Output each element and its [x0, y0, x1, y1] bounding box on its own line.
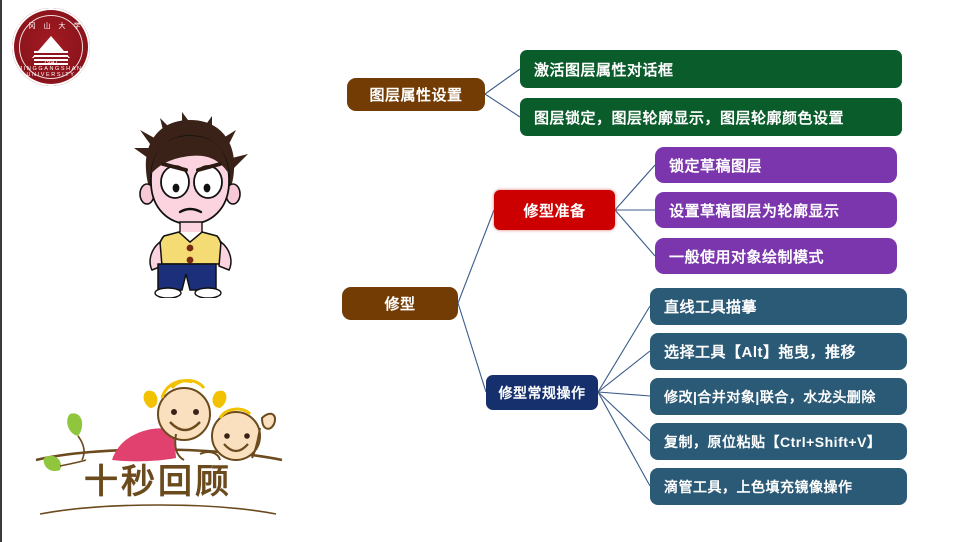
- node-line-tool-trace-label: 直线工具描摹: [664, 296, 907, 317]
- node-lock-draft-layer[interactable]: 锁定草稿图层: [655, 147, 897, 183]
- cartoon-boy-illustration: [120, 108, 260, 298]
- node-selection-tool-alt[interactable]: 选择工具【Alt】拖曳，推移: [650, 333, 907, 370]
- node-layer-properties-root[interactable]: 图层属性设置: [347, 78, 485, 111]
- kids-banner-illustration: 十秒回顾: [24, 362, 292, 530]
- kids-banner-caption: 十秒回顾: [24, 454, 292, 503]
- slide-canvas: 井冈山大学 1941 JINGGANGSHAN UNIVERSITY: [0, 0, 962, 542]
- node-layer-lock-outline[interactable]: 图层锁定，图层轮廓显示，图层轮廓颜色设置: [520, 98, 902, 136]
- node-shaping-root-label: 修型: [342, 293, 458, 314]
- node-line-tool-trace[interactable]: 直线工具描摹: [650, 288, 907, 325]
- node-activate-layer-dialog[interactable]: 激活图层属性对话框: [520, 50, 902, 88]
- university-logo: 井冈山大学 1941 JINGGANGSHAN UNIVERSITY: [12, 8, 90, 86]
- kids-banner-art: [24, 362, 292, 530]
- node-selection-tool-alt-label: 选择工具【Alt】拖曳，推移: [664, 341, 907, 362]
- node-lock-draft-layer-label: 锁定草稿图层: [669, 155, 897, 176]
- node-copy-paste-in-place-label: 复制，原位粘贴【Ctrl+Shift+V】: [664, 432, 907, 452]
- node-shaping-operations-label: 修型常规操作: [486, 383, 598, 403]
- node-draft-layer-outline-mode[interactable]: 设置草稿图层为轮廓显示: [655, 192, 897, 228]
- node-shaping-prep-label: 修型准备: [494, 200, 615, 221]
- node-copy-paste-in-place[interactable]: 复制，原位粘贴【Ctrl+Shift+V】: [650, 423, 907, 460]
- logo-arc-text: JINGGANGSHAN UNIVERSITY: [12, 66, 90, 78]
- node-layer-properties-root-label: 图层属性设置: [347, 84, 485, 105]
- node-object-drawing-mode[interactable]: 一般使用对象绘制模式: [655, 238, 897, 274]
- node-eyedropper-fill-mirror-label: 滴管工具，上色填充镜像操作: [664, 477, 907, 497]
- logo-top-text: 井冈山大学: [12, 21, 90, 31]
- node-object-drawing-mode-label: 一般使用对象绘制模式: [669, 246, 897, 267]
- node-shaping-operations[interactable]: 修型常规操作: [486, 375, 598, 410]
- node-shaping-prep[interactable]: 修型准备: [494, 190, 615, 230]
- node-merge-objects-union[interactable]: 修改|合并对象|联合，水龙头删除: [650, 378, 907, 415]
- node-shaping-root[interactable]: 修型: [342, 287, 458, 320]
- node-eyedropper-fill-mirror[interactable]: 滴管工具，上色填充镜像操作: [650, 468, 907, 505]
- node-activate-layer-dialog-label: 激活图层属性对话框: [534, 59, 902, 80]
- node-draft-layer-outline-mode-label: 设置草稿图层为轮廓显示: [669, 200, 897, 221]
- node-merge-objects-union-label: 修改|合并对象|联合，水龙头删除: [664, 387, 907, 407]
- node-layer-lock-outline-label: 图层锁定，图层轮廓显示，图层轮廓颜色设置: [534, 107, 902, 128]
